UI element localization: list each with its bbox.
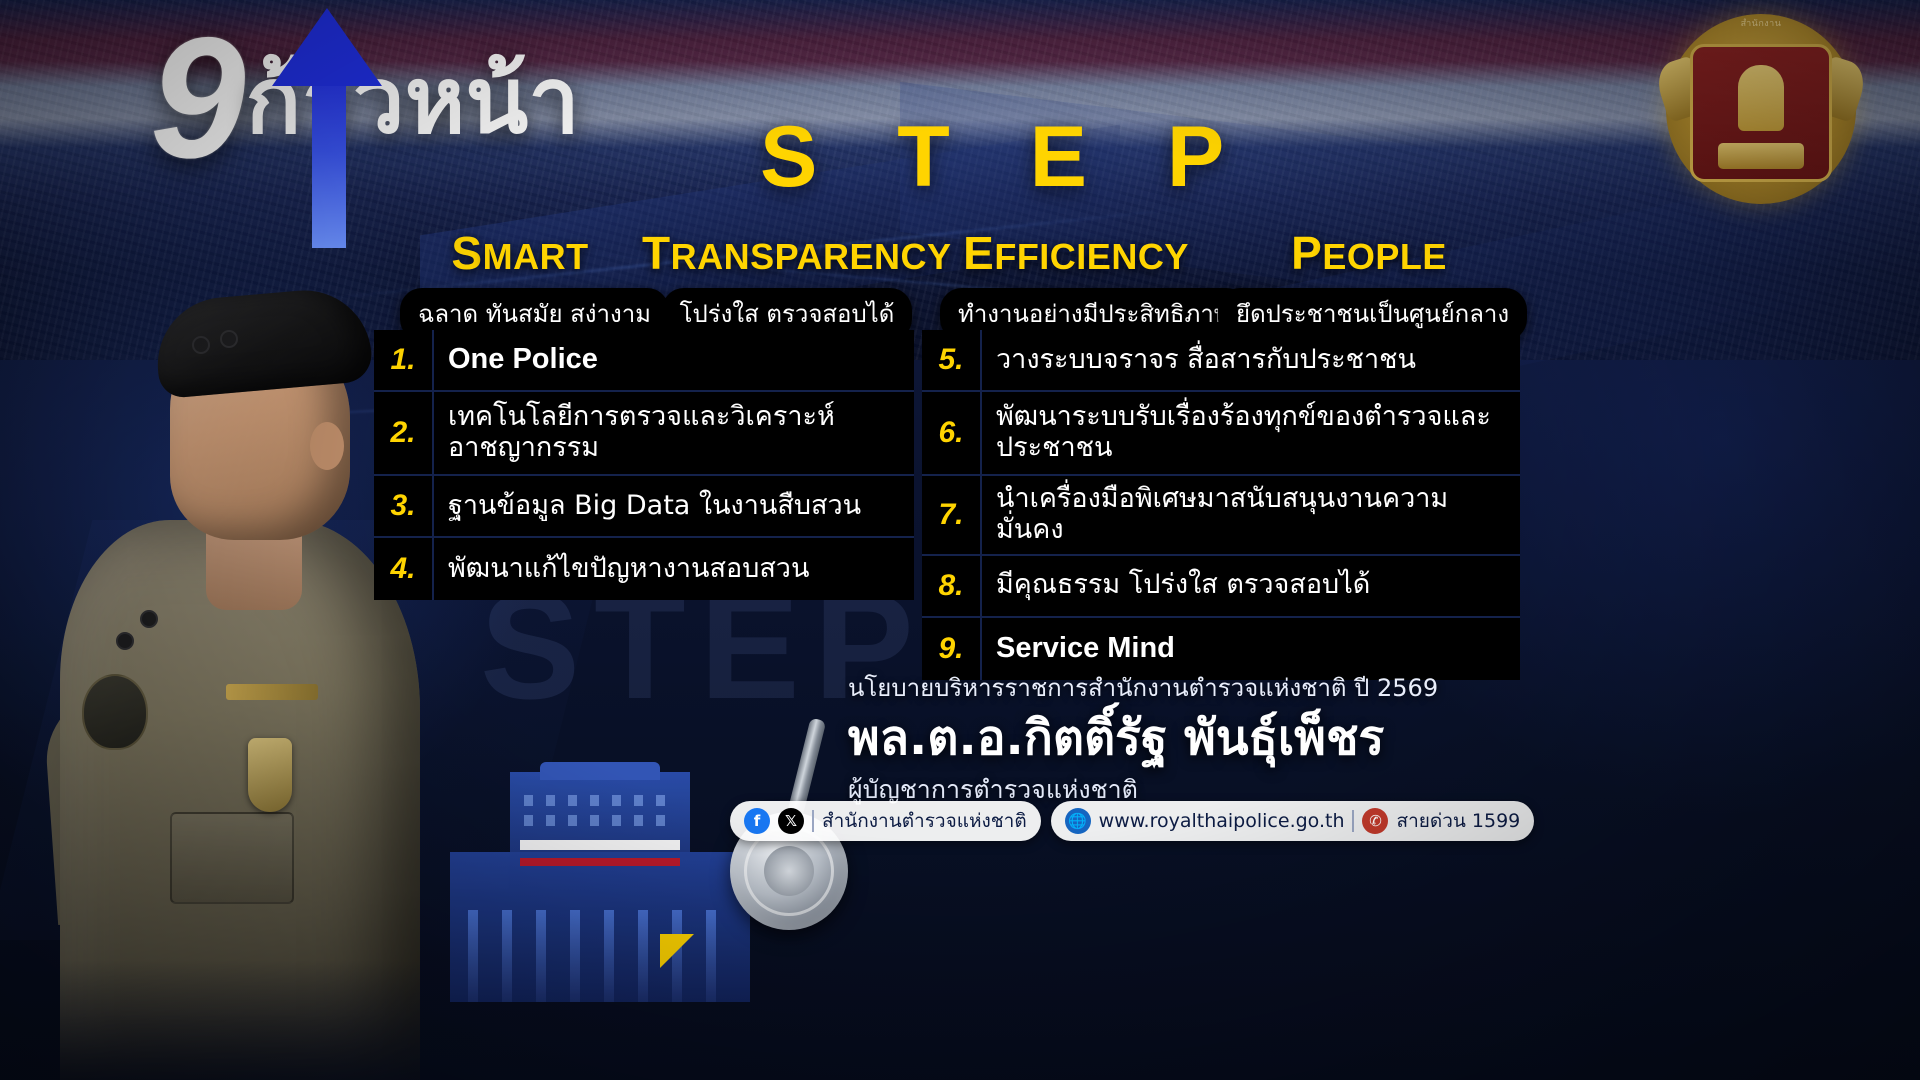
- category-people: PEOPLE ยึดประชาชนเป็นศูนย์กลาง: [1218, 226, 1520, 341]
- category-transparency-capital: T: [642, 227, 671, 279]
- list-item: 6. พัฒนาระบบรับเรื่องร้องทุกข์ของตำรวจแล…: [922, 392, 1520, 476]
- list-item: 5. วางระบบจราจร สื่อสารกับประชาชน: [922, 330, 1520, 392]
- list-item-text: ฐานข้อมูล Big Data ในงานสืบสวน: [434, 476, 914, 536]
- list-item: 4. พัฒนาแก้ไขปัญหางานสอบสวน: [374, 538, 914, 600]
- category-transparency: TRANSPARENCY โปร่งใส ตรวจสอบได้: [642, 226, 932, 341]
- category-efficiency-rest: FFICIENCY: [994, 236, 1189, 277]
- footer-contact-bar: f 𝕏 สำนักงานตำรวจแห่งชาติ 🌐 www.royaltha…: [730, 800, 1534, 842]
- category-efficiency-capital: E: [963, 227, 994, 279]
- royal-thai-police-emblem: สำนักงาน: [1666, 14, 1856, 204]
- infographic-poster: STEP สำนักงาน 9 ก้าวหน้า: [0, 0, 1920, 1080]
- website-url[interactable]: www.royalthaipolice.go.th: [1099, 810, 1345, 832]
- category-people-capital: P: [1291, 227, 1322, 279]
- x-twitter-icon[interactable]: 𝕏: [778, 808, 804, 834]
- footer-divider: [812, 810, 814, 832]
- list-item: 8. มีคุณธรรม โปร่งใส ตรวจสอบได้: [922, 556, 1520, 618]
- footer-divider: [1352, 810, 1354, 832]
- hotline-number: สายด่วน 1599: [1396, 806, 1520, 836]
- step-categories: SMART ฉลาด ทันสมัย สง่างาม TRANSPARENCY …: [400, 226, 1520, 326]
- list-item-number: 1.: [374, 330, 434, 390]
- website-pill[interactable]: 🌐 www.royalthaipolice.go.th ✆ สายด่วน 15…: [1051, 801, 1535, 841]
- globe-icon: 🌐: [1065, 808, 1091, 834]
- category-efficiency: EFFICIENCY ทำงานอย่างมีประสิทธิภาพ: [940, 226, 1212, 341]
- policy-list-right-column: 5. วางระบบจราจร สื่อสารกับประชาชน 6. พัฒ…: [922, 330, 1520, 680]
- upward-arrow-icon: [272, 8, 382, 248]
- step-acronym-title: S T E P: [760, 108, 1252, 207]
- yellow-accent-chevron: [660, 934, 694, 968]
- list-item-text: มีคุณธรรม โปร่งใส ตรวจสอบได้: [982, 556, 1520, 616]
- list-item-text: นำเครื่องมือพิเศษมาสนับสนุนงานความมั่นคง: [982, 476, 1520, 554]
- list-item: 7. นำเครื่องมือพิเศษมาสนับสนุนงานความมั่…: [922, 476, 1520, 556]
- list-item-number: 5.: [922, 330, 982, 390]
- phone-icon: ✆: [1362, 808, 1388, 834]
- list-item-text: วางระบบจราจร สื่อสารกับประชาชน: [982, 330, 1520, 390]
- list-item: 1. One Police: [374, 330, 914, 392]
- headline-number: 9: [150, 28, 240, 169]
- list-item-text: One Police: [434, 330, 914, 390]
- category-smart-rest: MART: [483, 236, 589, 277]
- list-item-text: พัฒนาระบบรับเรื่องร้องทุกข์ของตำรวจและปร…: [982, 392, 1520, 474]
- commissioner-name: พล.ต.อ.กิตติ์รัฐ พันธุ์เพ็ชร: [848, 711, 1528, 766]
- list-item: 3. ฐานข้อมูล Big Data ในงานสืบสวน: [374, 476, 914, 538]
- policy-list-left-column: 1. One Police 2. เทคโนโลยีการตรวจและวิเค…: [374, 330, 914, 680]
- social-media-pill[interactable]: f 𝕏 สำนักงานตำรวจแห่งชาติ: [730, 801, 1041, 841]
- category-smart-capital: S: [451, 227, 482, 279]
- category-smart: SMART ฉลาด ทันสมัย สง่างาม: [400, 226, 640, 341]
- social-handle-label: สำนักงานตำรวจแห่งชาติ: [822, 806, 1027, 836]
- facebook-icon[interactable]: f: [744, 808, 770, 834]
- list-item-number: 8.: [922, 556, 982, 616]
- attribution-block: นโยบายบริหารราชการสำนักงานตำรวจแห่งชาติ …: [848, 668, 1528, 810]
- policy-year-line: นโยบายบริหารราชการสำนักงานตำรวจแห่งชาติ …: [848, 668, 1528, 707]
- emblem-caption: สำนักงาน: [1666, 16, 1856, 30]
- category-transparency-rest: RANSPARENCY: [671, 236, 952, 277]
- list-item-number: 4.: [374, 538, 434, 600]
- list-item-text: พัฒนาแก้ไขปัญหางานสอบสวน: [434, 538, 914, 600]
- list-item-text: เทคโนโลยีการตรวจและวิเคราะห์อาชญากรรม: [434, 392, 914, 474]
- list-item: 2. เทคโนโลยีการตรวจและวิเคราะห์อาชญากรรม: [374, 392, 914, 476]
- policy-list: 1. One Police 2. เทคโนโลยีการตรวจและวิเค…: [374, 330, 1520, 680]
- list-item-number: 2.: [374, 392, 434, 474]
- list-item-number: 3.: [374, 476, 434, 536]
- category-people-rest: EOPLE: [1322, 236, 1447, 277]
- list-item-number: 6.: [922, 392, 982, 474]
- list-item-number: 7.: [922, 476, 982, 554]
